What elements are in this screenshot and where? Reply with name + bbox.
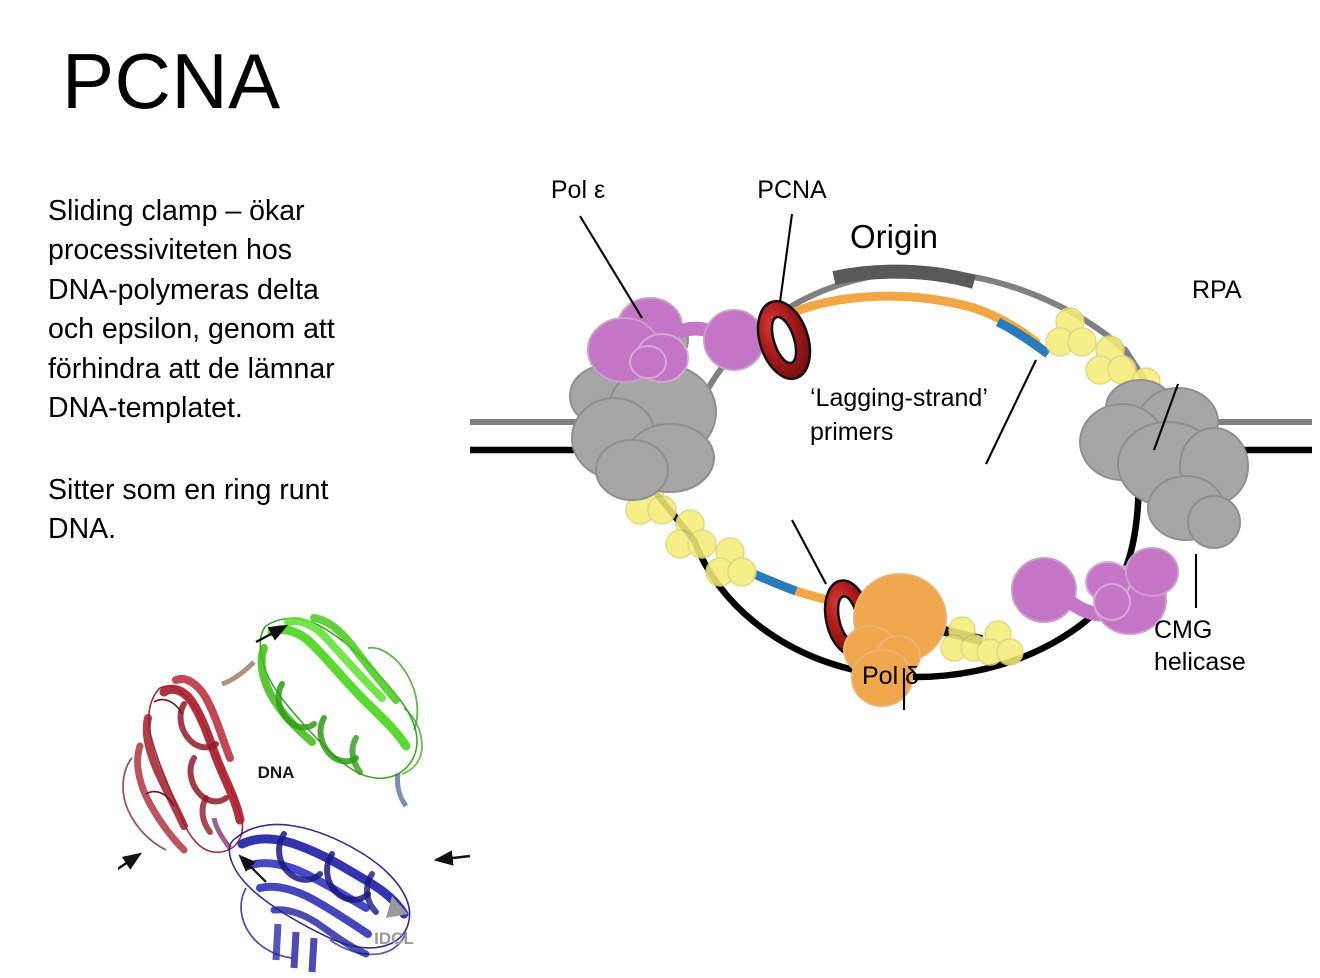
pol-epsilon-left — [588, 298, 764, 382]
pcna-crystal-structure-figure: DNA IDCL — [118, 588, 498, 978]
diagram-label-lagging-strand-line2: primers — [810, 418, 893, 446]
diagram-label-pcna: PCNA — [757, 176, 827, 204]
structure-label-idcl: IDCL — [374, 929, 414, 948]
subunit-interface-red-green — [222, 662, 254, 684]
cmg-helicase-right — [1080, 380, 1248, 548]
page-title: PCNA — [62, 42, 281, 120]
dna-replication-bubble-diagram: Pol ε PCNA Origin RPA ‘Lagging-strand’ p… — [462, 150, 1320, 710]
diagram-label-pol-epsilon: Pol ε — [551, 176, 605, 204]
diagram-label-origin: Origin — [850, 218, 938, 255]
diagram-label-cmg-line1: CMG — [1154, 616, 1212, 644]
annotation-arrow-left-icon — [118, 854, 140, 878]
origin-segment — [834, 272, 974, 282]
pcna-subunit-red — [123, 679, 242, 852]
body-paragraph-2: Sitter som en ring runt DNA. — [48, 471, 354, 550]
leader-pol-epsilon — [580, 216, 642, 318]
leader-lagging-primer-bottom — [792, 520, 826, 584]
annotation-arrow-right-icon — [436, 856, 470, 860]
pcna-subunit-blue — [229, 825, 409, 973]
leader-pcna — [780, 214, 792, 302]
rpa-cluster-bottom-right — [941, 617, 1023, 665]
pcna-subunit-green — [260, 618, 422, 778]
top-nascent-dna-orange — [780, 296, 1036, 342]
structure-label-dna: DNA — [258, 763, 295, 782]
diagram-label-cmg-line2: helicase — [1154, 648, 1246, 676]
subunit-interface-red-blue — [214, 818, 230, 848]
diagram-label-pol-delta: Pol δ — [862, 662, 919, 691]
top-rna-primer-blue — [998, 322, 1048, 354]
diagram-label-rpa: RPA — [1192, 276, 1242, 304]
diagram-label-lagging-strand-line1: ‘Lagging-strand’ — [810, 384, 988, 412]
slide-body-text: Sliding clamp – ökar processiviteten hos… — [48, 192, 354, 550]
bottom-rna-primer-blue — [754, 574, 796, 591]
subunit-interface-green-blue — [397, 774, 406, 806]
leader-lagging-primer-top — [986, 360, 1036, 464]
body-paragraph-1: Sliding clamp – ökar processiviteten hos… — [48, 192, 354, 429]
